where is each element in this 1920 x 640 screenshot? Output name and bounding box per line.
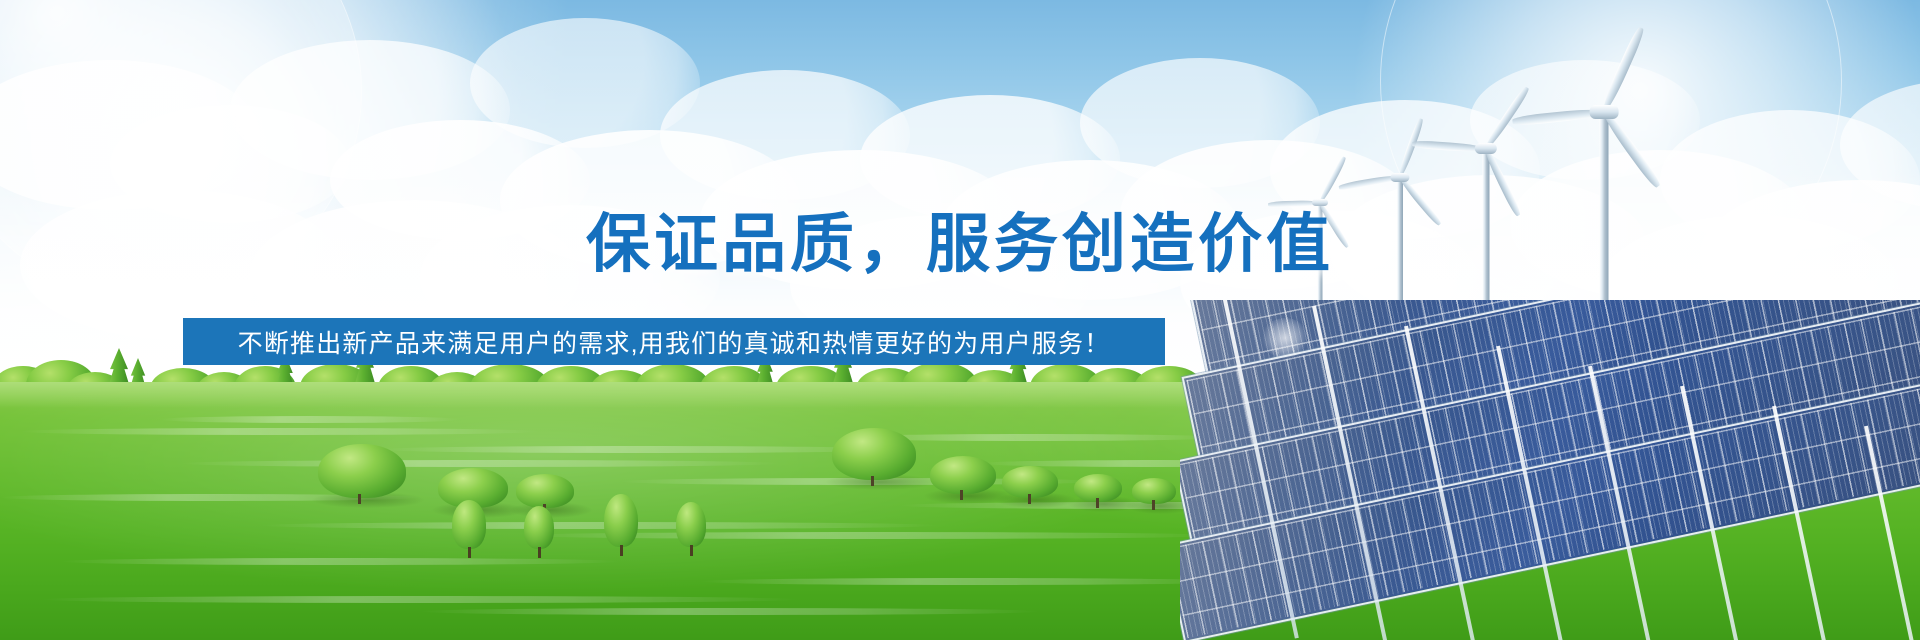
mow-stripe <box>260 522 940 529</box>
hero-banner: 保证品质，服务创造价值 不断推出新产品来满足用户的需求,用我们的真诚和热情更好的… <box>0 0 1920 640</box>
sapling-tree <box>452 500 486 558</box>
mow-stripe <box>180 460 780 467</box>
meadow-shrub <box>516 474 574 508</box>
sapling-trunk <box>690 545 693 556</box>
turbine-nacelle <box>1475 143 1497 154</box>
meadow-tree <box>832 428 916 480</box>
turbine-blade <box>1600 109 1662 189</box>
sapling-trunk <box>538 547 541 558</box>
mow-stripe <box>20 428 540 435</box>
subtitle-text: 不断推出新产品来满足用户的需求,用我们的真诚和热情更好的为用户服务！ <box>238 324 1111 360</box>
tree-trunk <box>1096 498 1099 508</box>
tree-trunk <box>871 476 874 486</box>
subtitle-banner: 不断推出新产品来满足用户的需求,用我们的真诚和热情更好的为用户服务！ <box>183 318 1165 365</box>
turbine-nacelle <box>1312 199 1328 207</box>
tree-trunk <box>1028 494 1031 504</box>
sapling-crown <box>452 500 486 549</box>
meadow-tree <box>318 444 406 498</box>
meadow-shrub <box>930 456 996 494</box>
mow-stripe <box>380 446 900 453</box>
sapling-crown <box>524 506 554 549</box>
grass-field <box>0 382 1920 640</box>
mow-stripe <box>700 578 1240 585</box>
mow-stripe <box>160 416 460 423</box>
tree-trunk <box>358 494 361 504</box>
sapling-crown <box>676 502 706 547</box>
sapling-tree <box>604 494 638 556</box>
turbine-nacelle <box>1390 173 1409 182</box>
turbine-nacelle <box>1590 105 1619 119</box>
page-title: 保证品质，服务创造价值 <box>0 211 1920 278</box>
tree-trunk <box>1152 500 1155 510</box>
sapling-crown <box>604 494 638 547</box>
sapling-tree <box>676 502 706 556</box>
mow-stripe <box>420 608 1040 615</box>
mow-stripe <box>40 596 800 603</box>
mow-stripe <box>60 558 620 565</box>
tree-trunk <box>960 490 963 500</box>
sapling-trunk <box>468 547 471 558</box>
sapling-trunk <box>620 545 623 556</box>
sapling-tree <box>524 506 554 558</box>
